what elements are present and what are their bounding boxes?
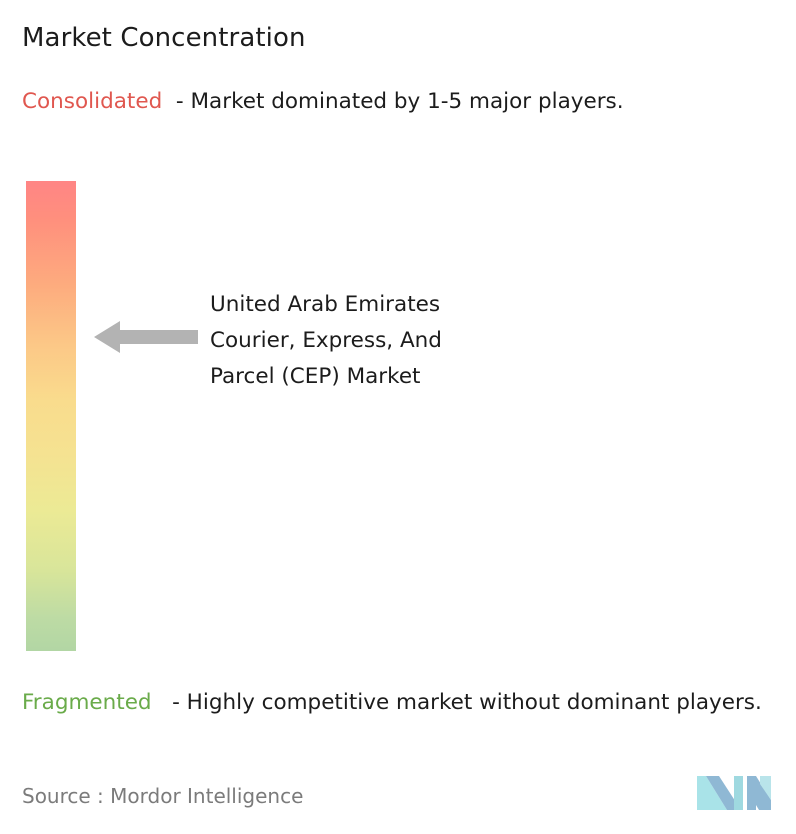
market-concentration-chart: Market Concentration Consolidated - Mark… bbox=[0, 0, 796, 834]
mordor-intelligence-logo-icon bbox=[697, 768, 771, 810]
source-note: Source : Mordor Intelligence bbox=[22, 783, 303, 809]
left-arrow-icon bbox=[94, 320, 198, 354]
legend-description-fragmented: - Highly competitive market without domi… bbox=[172, 690, 762, 715]
legend-term-fragmented: Fragmented bbox=[22, 690, 152, 715]
page-title: Market Concentration bbox=[22, 21, 306, 55]
series-label: United Arab Emirates Courier, Express, A… bbox=[210, 287, 610, 395]
series-label-line-3: Parcel (CEP) Market bbox=[210, 359, 610, 395]
concentration-gradient-bar bbox=[26, 181, 76, 651]
series-label-line-1: United Arab Emirates bbox=[210, 287, 610, 323]
series-label-line-2: Courier, Express, And bbox=[210, 323, 610, 359]
legend-description-consolidated: - Market dominated by 1-5 major players. bbox=[176, 89, 624, 114]
source-label: Source : bbox=[22, 784, 104, 808]
legend-fragmented: Fragmented - Highly competitive market w… bbox=[22, 687, 782, 718]
legend-separator-top bbox=[162, 89, 176, 114]
legend-term-consolidated: Consolidated bbox=[22, 89, 162, 114]
legend-separator-bottom bbox=[152, 690, 173, 715]
legend-consolidated: Consolidated - Market dominated by 1-5 m… bbox=[22, 86, 772, 117]
source-name: Mordor Intelligence bbox=[110, 784, 303, 808]
